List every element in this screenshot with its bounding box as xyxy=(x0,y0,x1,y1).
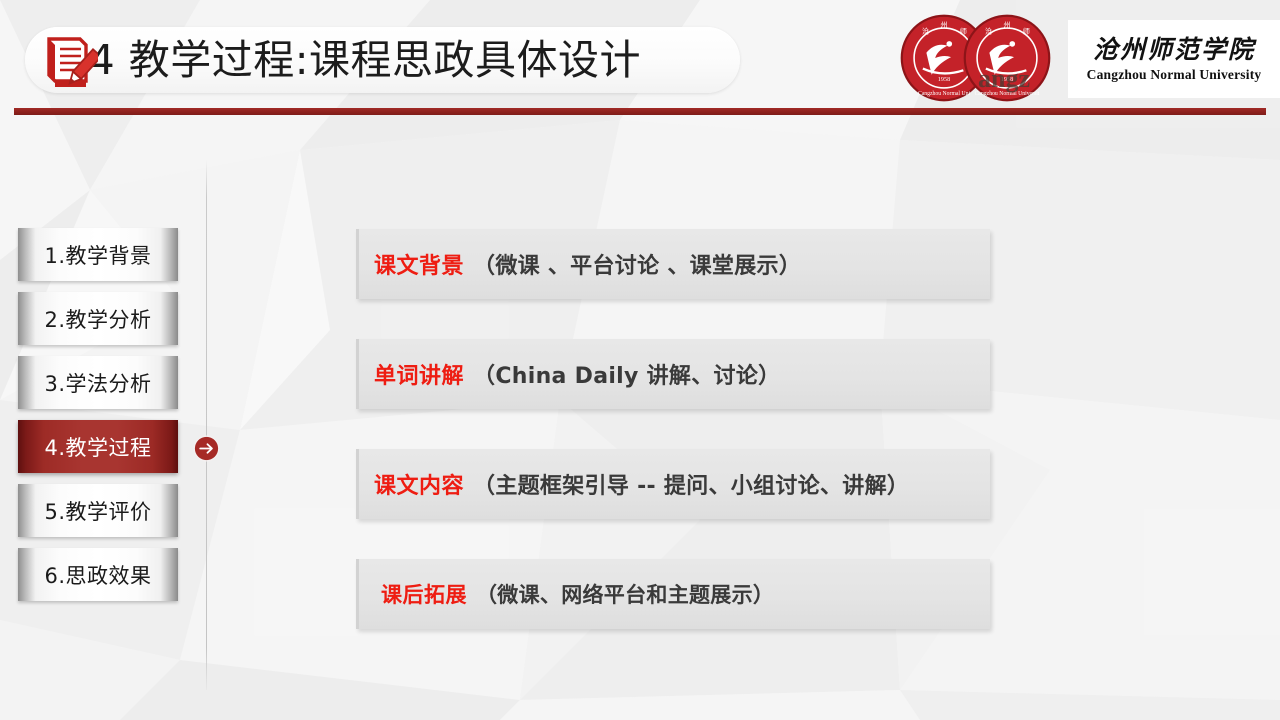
page-title: 04 教学过程:课程思政具体设计 xyxy=(62,27,641,93)
arrow-right-circle-icon xyxy=(192,434,221,463)
card-heading-4: 课后拓展 xyxy=(381,579,467,609)
sidebar-item-5[interactable]: 5.教学评价 xyxy=(18,484,178,537)
logo-ghost-text: angz xyxy=(978,64,1030,94)
sidebar-divider-line xyxy=(206,160,207,690)
svg-text:州: 州 xyxy=(1003,20,1010,29)
card-heading-3: 课文内容 xyxy=(374,468,464,500)
svg-text:州: 州 xyxy=(940,20,947,29)
card-detail-3: （主题框架引导 -- 提问、小组讨论、讲解） xyxy=(473,468,909,500)
university-name-cn: 沧州师范学院 xyxy=(1093,36,1255,66)
content-card-3[interactable]: 课文内容 （主题框架引导 -- 提问、小组讨论、讲解） xyxy=(356,449,990,519)
content-card-4[interactable]: 课后拓展 （微课、网络平台和主题展示） xyxy=(356,559,990,629)
card-detail-1: （微课 、平台讨论 、课堂展示） xyxy=(473,248,801,280)
sidebar-item-4[interactable]: 4.教学过程 xyxy=(18,420,178,473)
content-card-1[interactable]: 课文背景 （微课 、平台讨论 、课堂展示） xyxy=(356,229,990,299)
sidebar-item-3[interactable]: 3.学法分析 xyxy=(18,356,178,409)
svg-text:1958: 1958 xyxy=(938,77,950,83)
card-detail-2: （China Daily 讲解、讨论） xyxy=(473,358,780,390)
svg-text:师: 师 xyxy=(1023,26,1030,35)
university-logo-group: angz 1958 Cangzhou Normal Uni 沧州师 xyxy=(900,12,1280,108)
content-card-2[interactable]: 单词讲解 （China Daily 讲解、讨论） xyxy=(356,339,990,409)
card-heading-1: 课文背景 xyxy=(374,248,464,280)
university-name-box: 沧州师范学院 Cangzhou Normal University xyxy=(1068,20,1280,98)
card-heading-2: 单词讲解 xyxy=(374,358,464,390)
card-detail-4: （微课、网络平台和主题展示） xyxy=(476,579,774,609)
svg-text:沧: 沧 xyxy=(922,26,929,35)
page-title-text: 教学过程:课程思政具体设计 xyxy=(115,36,641,84)
sidebar-item-6[interactable]: 6.思政效果 xyxy=(18,548,178,601)
header-band: 04 教学过程:课程思政具体设计 angz xyxy=(0,0,1280,108)
sidebar-item-2[interactable]: 2.教学分析 xyxy=(18,292,178,345)
notepad-pencil-icon xyxy=(42,33,98,91)
header-divider xyxy=(14,108,1266,115)
university-name-en: Cangzhou Normal University xyxy=(1087,66,1262,84)
svg-text:沧: 沧 xyxy=(985,26,992,35)
sidebar-nav: 1.教学背景 2.教学分析 3.学法分析 4.教学过程 5.教学评价 6.思政效… xyxy=(18,228,178,612)
content-card-list: 课文背景 （微课 、平台讨论 、课堂展示） 单词讲解 （China Daily … xyxy=(356,229,990,629)
sidebar-item-1[interactable]: 1.教学背景 xyxy=(18,228,178,281)
slide-canvas: 04 教学过程:课程思政具体设计 angz xyxy=(0,0,1280,720)
